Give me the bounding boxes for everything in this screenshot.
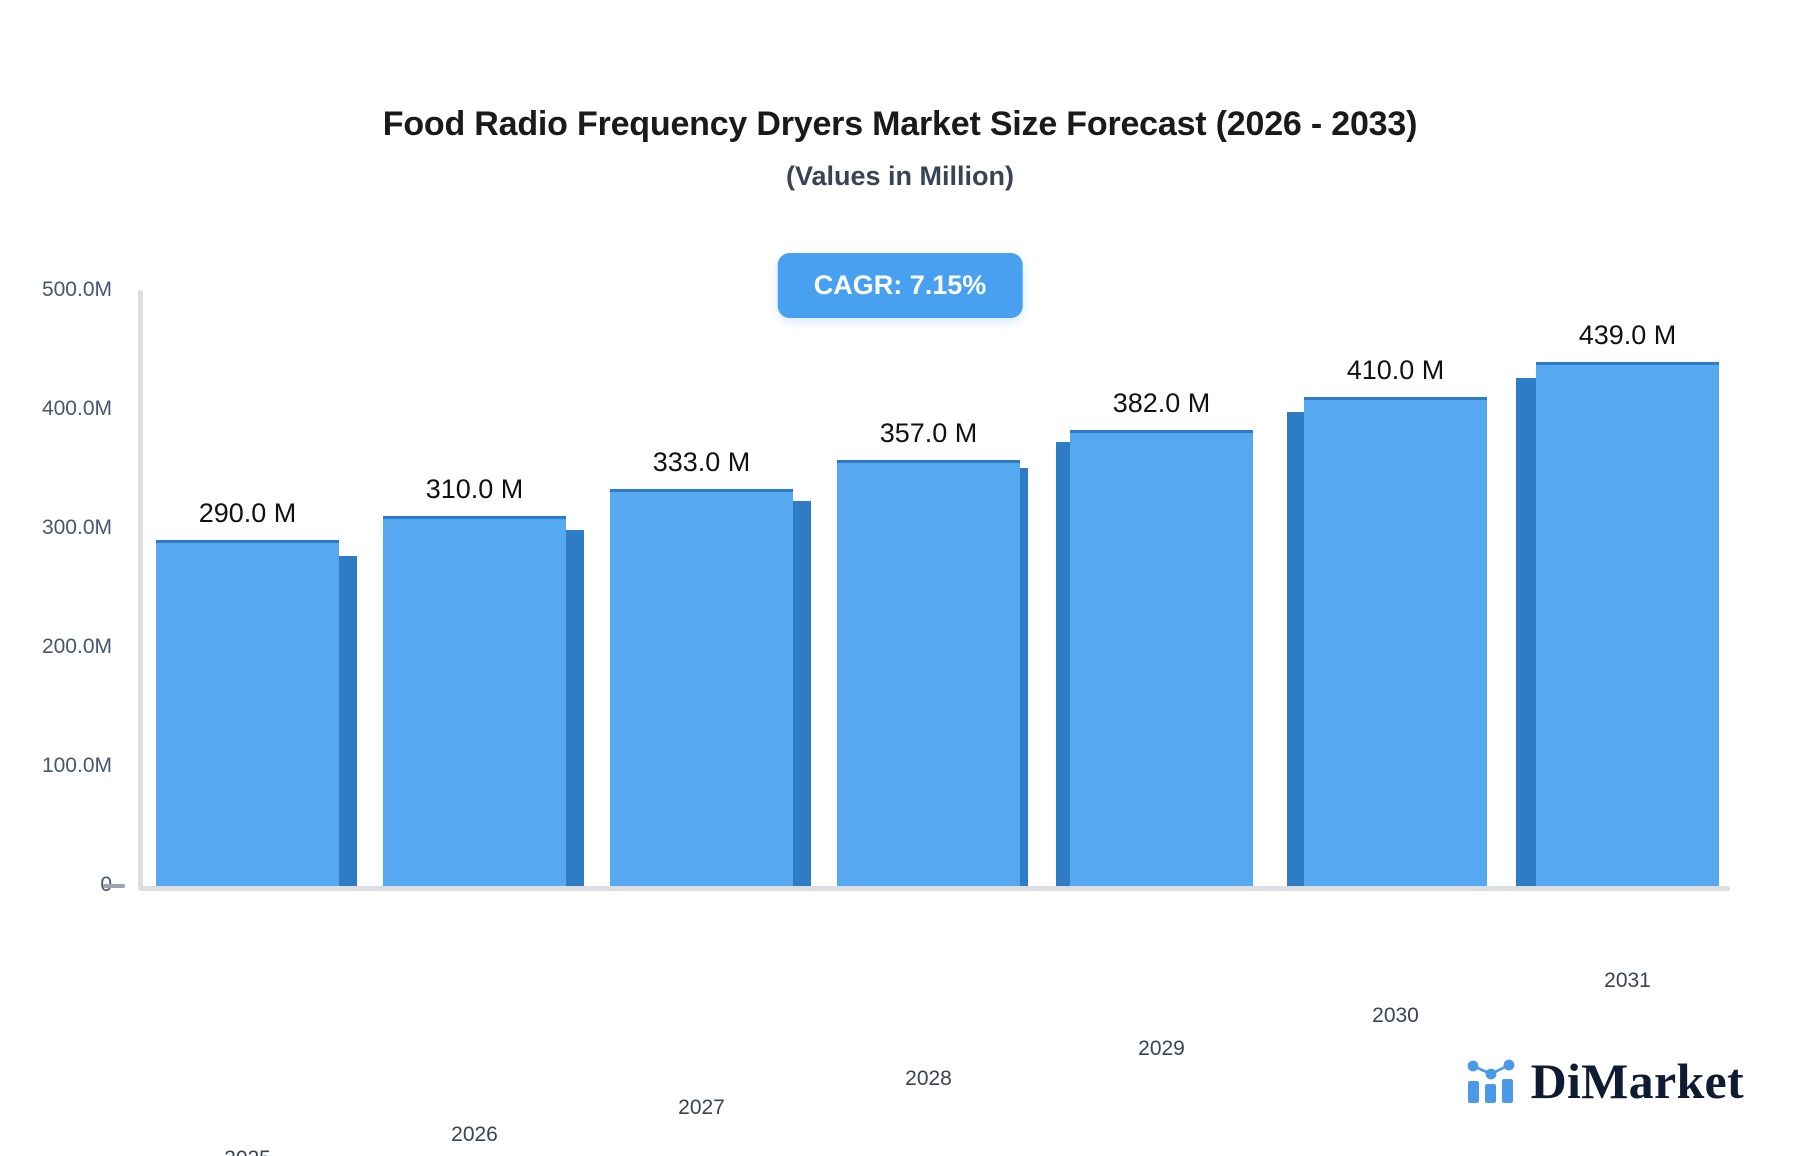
bar-group-2025[interactable]: 290.0 M 2025 xyxy=(156,540,339,886)
bar-side-face xyxy=(1516,378,1536,886)
y-tick-label-500: 500.0M xyxy=(0,278,120,302)
bar-side-face xyxy=(339,556,357,886)
bar-group-2027[interactable]: 333.0 M 2027 xyxy=(610,489,793,886)
chart-card: Food Radio Frequency Dryers Market Size … xyxy=(0,0,1800,1156)
bar-front-face xyxy=(610,489,793,886)
x-axis-line xyxy=(138,886,1730,891)
plot-area: 290.0 M 2025 310.0 M 2026 333.0 M 2027 3… xyxy=(138,290,1730,886)
brand-logo: DiMarket xyxy=(1465,1052,1744,1110)
bar-group-2031[interactable]: 439.0 M 2031 xyxy=(1536,362,1719,886)
y-tick-label-200: 200.0M xyxy=(0,635,120,659)
x-tick-label-2028: 2028 xyxy=(905,1067,952,1091)
x-tick-label-2031: 2031 xyxy=(1604,969,1651,993)
y-axis-zero-tick xyxy=(103,884,125,888)
bar-side-face xyxy=(1056,442,1070,886)
bar-front-face xyxy=(1304,397,1487,886)
y-tick-label-100: 100.0M xyxy=(0,754,120,778)
bar-group-2028[interactable]: 357.0 M 2028 xyxy=(837,460,1020,886)
bar-value-label: 410.0 M xyxy=(1347,355,1445,386)
bar-value-label: 310.0 M xyxy=(426,474,524,505)
bar-value-label: 382.0 M xyxy=(1113,388,1211,419)
bar-chart-icon xyxy=(1465,1057,1517,1105)
chart-subtitle: (Values in Million) xyxy=(0,161,1800,192)
bar-value-label: 290.0 M xyxy=(199,498,297,529)
y-tick-label-300: 300.0M xyxy=(0,516,120,540)
bar-group-2030[interactable]: 410.0 M 2030 xyxy=(1304,397,1487,886)
x-tick-label-2026: 2026 xyxy=(451,1123,498,1147)
bar-front-face xyxy=(1536,362,1719,886)
bar-front-face xyxy=(837,460,1020,886)
bar-front-face xyxy=(156,540,339,886)
y-axis-labels: 500.0M 400.0M 300.0M 200.0M 100.0M 0 xyxy=(0,0,120,1156)
x-tick-label-2029: 2029 xyxy=(1138,1037,1185,1061)
title-block: Food Radio Frequency Dryers Market Size … xyxy=(0,104,1800,192)
bar-side-face xyxy=(793,501,811,886)
page-title: Food Radio Frequency Dryers Market Size … xyxy=(0,104,1800,145)
bar-value-label: 357.0 M xyxy=(880,418,978,449)
bar-side-face xyxy=(566,530,584,886)
bar-front-face xyxy=(1070,430,1253,886)
bar-value-label: 333.0 M xyxy=(653,447,751,478)
bar-group-2029[interactable]: 382.0 M 2029 xyxy=(1070,430,1253,886)
bar-group-2026[interactable]: 310.0 M 2026 xyxy=(383,516,566,886)
logo-wordmark: DiMarket xyxy=(1531,1052,1744,1110)
x-tick-label-2030: 2030 xyxy=(1372,1004,1419,1028)
bar-front-face xyxy=(383,516,566,886)
bar-side-face xyxy=(1287,412,1304,886)
y-tick-label-0: 0 xyxy=(0,873,120,897)
y-tick-label-400: 400.0M xyxy=(0,397,120,421)
x-tick-label-2027: 2027 xyxy=(678,1096,725,1120)
bar-value-label: 439.0 M xyxy=(1579,320,1677,351)
bar-side-face xyxy=(1020,468,1028,886)
x-tick-label-2025: 2025 xyxy=(224,1147,271,1156)
